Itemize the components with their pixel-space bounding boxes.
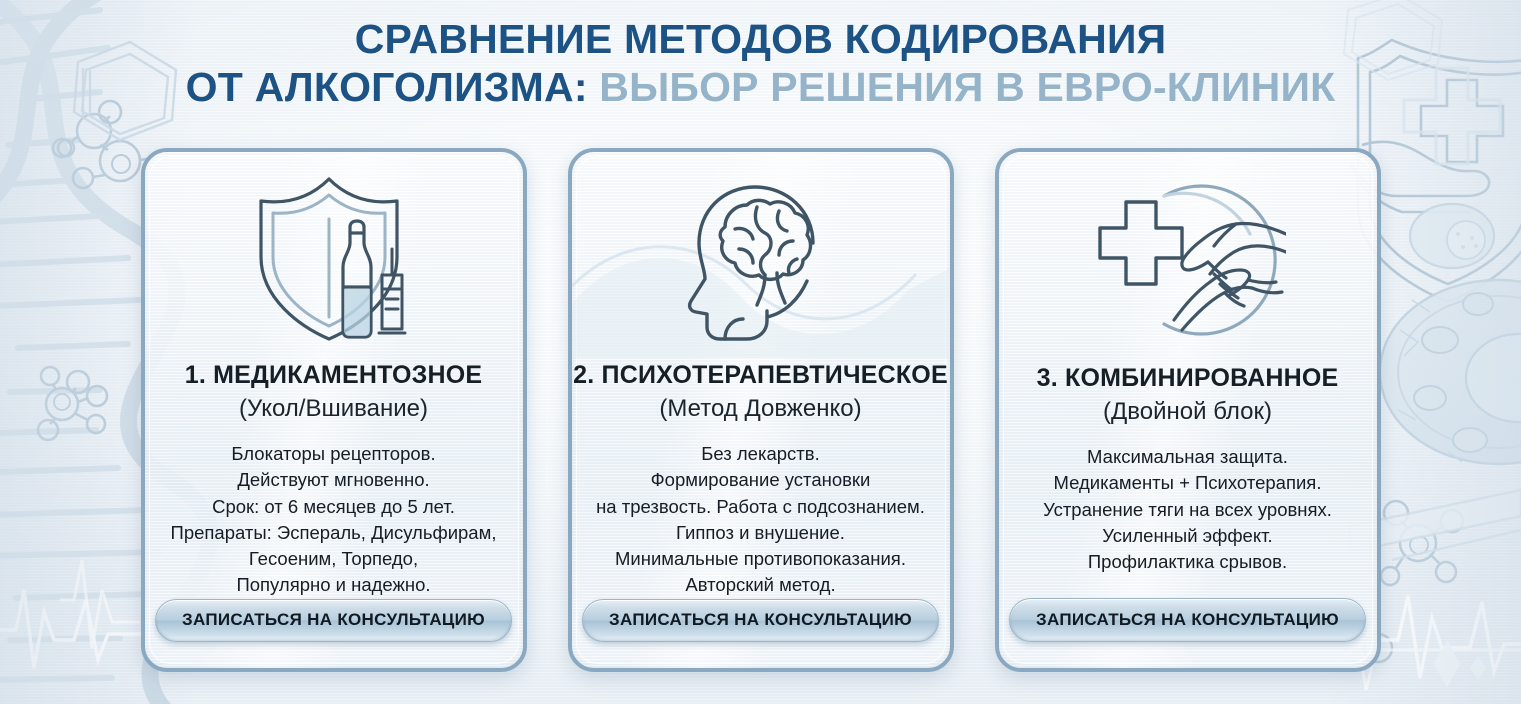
card-subtitle-3: (Двойной блок) (1103, 398, 1272, 426)
card-title-2: 2. ПСИХОТЕРАПЕВТИЧЕСКОЕ (573, 361, 948, 390)
card-line: Авторский метод. (596, 572, 925, 598)
card-line: Препараты: Эспераль, Дисульфирам, (171, 520, 497, 546)
card-line: Медикаменты + Психотерапия. (1043, 470, 1332, 496)
consultation-button-3[interactable]: ЗАПИСАТЬСЯ НА КОНСУЛЬТАЦИЮ (1009, 598, 1366, 642)
card-line: Без лекарств. (596, 441, 925, 467)
card-subtitle-1: (Укол/Вшивание) (239, 395, 428, 423)
card-line: Срок: от 6 месяцев до 5 лет. (171, 494, 497, 520)
card-line: Блокаторы рецепторов. (171, 441, 497, 467)
card-subtitle-2: (Метод Довженко) (659, 395, 861, 423)
card-line: Профилактика срывов. (1043, 549, 1332, 575)
consultation-button-1[interactable]: ЗАПИСАТЬСЯ НА КОНСУЛЬТАЦИЮ (155, 599, 512, 642)
page-title: СРАВНЕНИЕ МЕТОДОВ КОДИРОВАНИЯ ОТ АЛКОГОЛ… (0, 16, 1521, 111)
cross-helping-hands-icon (1090, 174, 1286, 346)
card-line: Формирование установки (596, 467, 925, 493)
head-brain-icon (673, 171, 849, 347)
title-line-2: ОТ АЛКОГОЛИЗМА: ВЫБОР РЕШЕНИЯ В ЕВРО-КЛИ… (0, 64, 1521, 112)
title-line-2-light: ВЫБОР РЕШЕНИЯ В ЕВРО-КЛИНИК (599, 64, 1335, 110)
card-icon-area-3 (999, 162, 1377, 358)
card-icon-area-1 (145, 162, 523, 355)
consultation-button-2[interactable]: ЗАПИСАТЬСЯ НА КОНСУЛЬТАЦИЮ (582, 599, 939, 642)
method-card-psychotherapy[interactable]: 2. ПСИХОТЕРАПЕВТИЧЕСКОЕ (Метод Довженко)… (568, 148, 954, 672)
card-line: Максимальная защита. (1043, 444, 1332, 470)
title-line-2-dark: ОТ АЛКОГОЛИЗМА: (186, 64, 588, 110)
card-title-3: 3. КОМБИНИРОВАННОЕ (1037, 364, 1339, 393)
card-body-2: Без лекарств. Формирование установки на … (588, 441, 933, 599)
card-body-1: Блокаторы рецепторов. Действуют мгновенн… (163, 441, 505, 599)
method-card-medication[interactable]: 1. МЕДИКАМЕНТОЗНОЕ (Укол/Вшивание) Блока… (141, 148, 527, 672)
card-line: Действуют мгновенно. (171, 467, 497, 493)
shield-ampoule-syringe-icon (239, 171, 429, 347)
method-card-combined[interactable]: 3. КОМБИНИРОВАННОЕ (Двойной блок) Максим… (995, 148, 1381, 672)
card-line: Гесоеним, Торпедо, (171, 546, 497, 572)
card-icon-area-2 (572, 162, 950, 355)
card-line: Усиленный эффект. (1043, 523, 1332, 549)
card-line: Гиппоз и внушение. (596, 520, 925, 546)
card-line: на трезвость. Работа с подсознанием. (596, 494, 925, 520)
title-line-1: СРАВНЕНИЕ МЕТОДОВ КОДИРОВАНИЯ (0, 16, 1521, 64)
card-title-1: 1. МЕДИКАМЕНТОЗНОЕ (185, 361, 482, 390)
card-line: Минимальные противопоказания. (596, 546, 925, 572)
card-body-3: Максимальная защита. Медикаменты + Психо… (1035, 444, 1340, 575)
cards-container: 1. МЕДИКАМЕНТОЗНОЕ (Укол/Вшивание) Блока… (0, 148, 1521, 674)
card-line: Популярно и надежно. (171, 572, 497, 598)
card-line: Устранение тяги на всех уровнях. (1043, 497, 1332, 523)
